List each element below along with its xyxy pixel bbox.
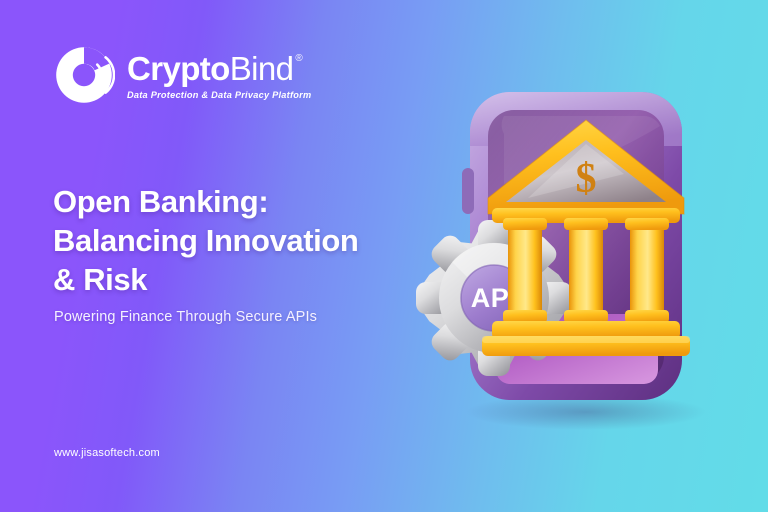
title-line-2: Balancing Innovation [53, 221, 453, 260]
page-subtitle: Powering Finance Through Secure APIs [54, 309, 317, 325]
bank-columns [503, 218, 669, 323]
title-line-1: Open Banking: [53, 182, 453, 221]
banner-root: CryptoBind® Data Protection & Data Priva… [0, 0, 768, 512]
page-title: Open Banking: Balancing Innovation & Ris… [53, 182, 453, 299]
brand-tagline: Data Protection & Data Privacy Platform [127, 90, 311, 100]
open-banking-api-illustration: API $ [408, 82, 748, 432]
dollar-sign-icon: $ [576, 156, 597, 202]
cryptobind-circle-logo-icon [53, 44, 115, 106]
website-url: www.jisasoftech.com [54, 447, 160, 459]
title-line-3: & Risk [53, 260, 453, 299]
wordmark-light: Bind [230, 52, 294, 85]
wordmark-bold: Crypto [127, 52, 230, 85]
registered-trademark-icon: ® [295, 54, 302, 64]
brand-text-group: CryptoBind® Data Protection & Data Priva… [127, 50, 311, 100]
brand-wordmark: CryptoBind® [127, 52, 311, 85]
brand-logo[interactable]: CryptoBind® Data Protection & Data Priva… [53, 44, 311, 106]
